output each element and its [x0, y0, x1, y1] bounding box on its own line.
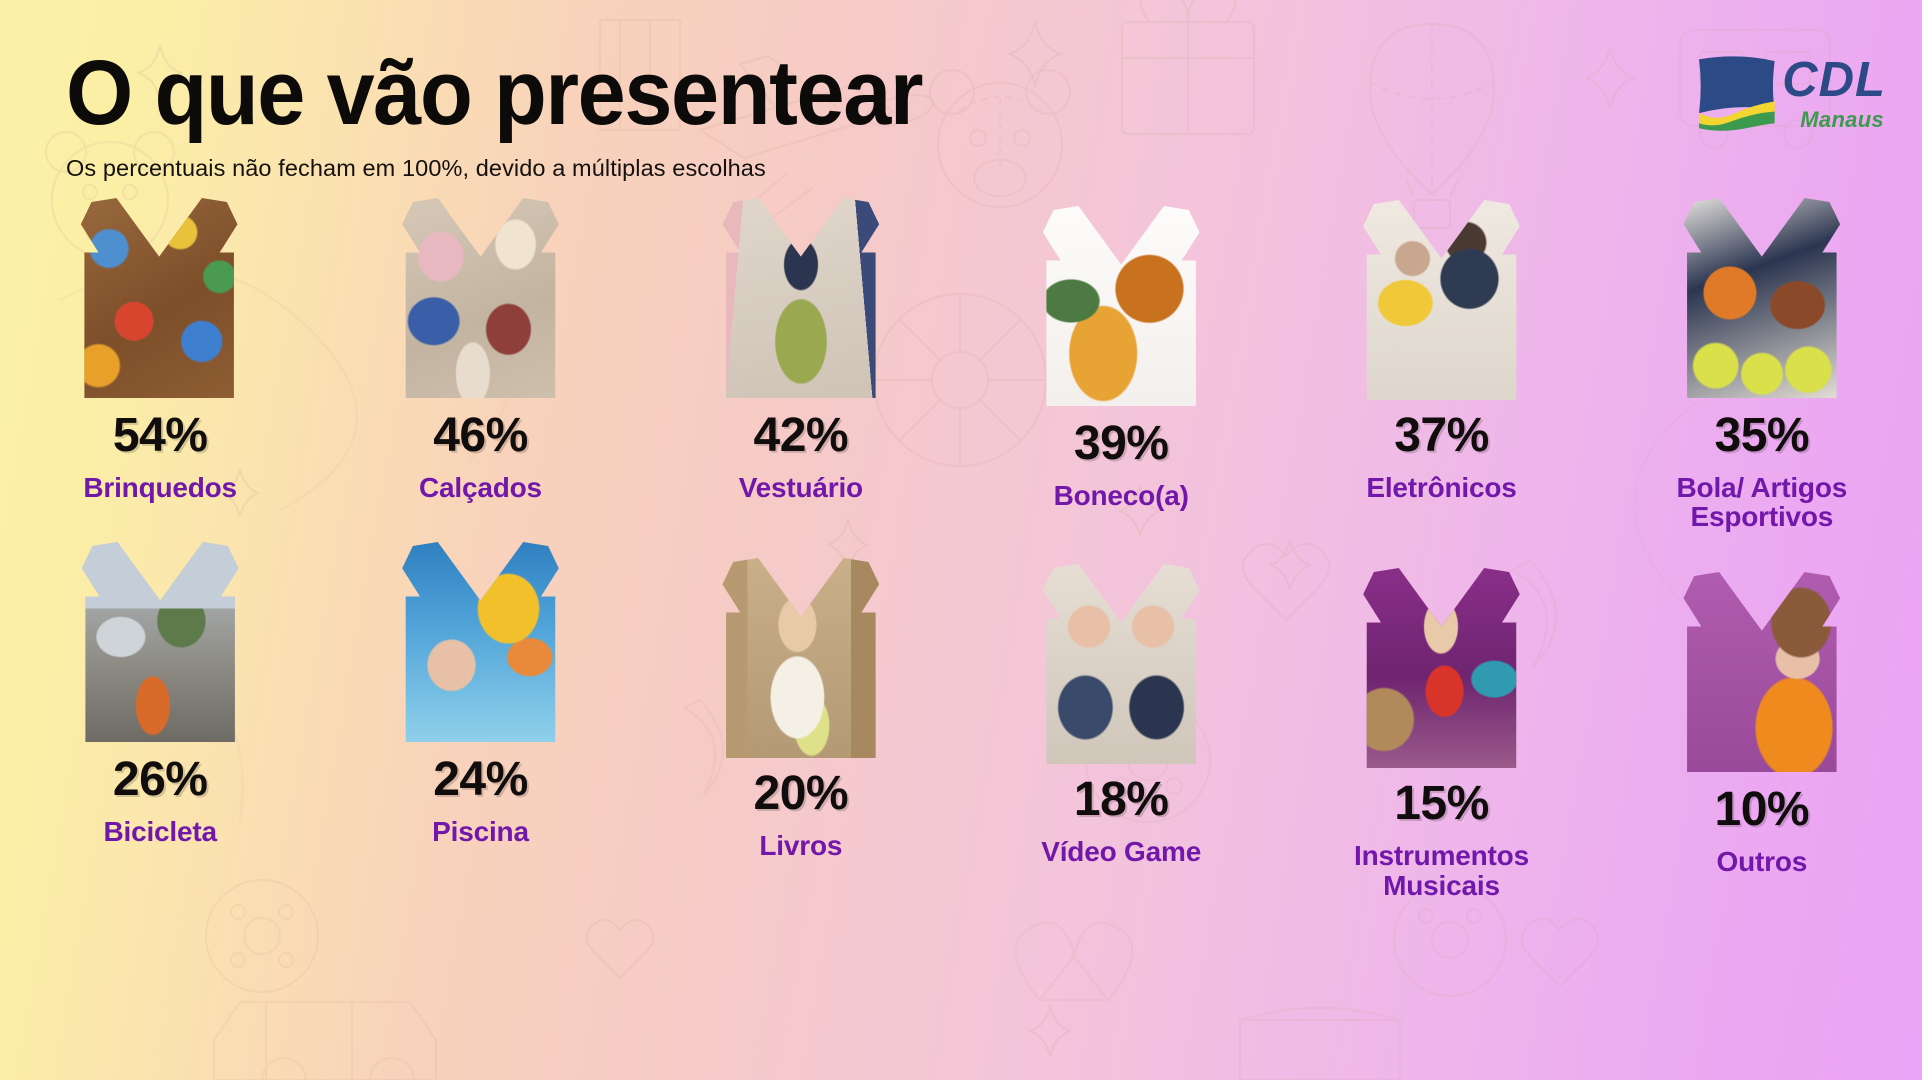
infographic-poster: O que vão presentear Os percentuais não …: [0, 0, 1922, 1080]
percent-value: 24%: [433, 756, 528, 804]
percent-value: 10%: [1715, 786, 1810, 834]
sports-equipment-photo: [1673, 196, 1851, 398]
percent-value: 35%: [1715, 412, 1810, 460]
gift-category-grid: 54% Brinquedos 46% Calçados 42% Vestuári…: [0, 196, 1922, 870]
gift-item-instrumentos-musicais: 15% Instrumentos Musicais: [1281, 540, 1601, 870]
gift-box-shape: [1673, 196, 1851, 398]
thinking-woman-photo: [1673, 570, 1851, 772]
category-label: Piscina: [432, 817, 529, 847]
child-clothing-photo: [712, 196, 890, 398]
gift-item-bola-artigos-esportivos: 35% Bola/ Artigos Esportivos: [1602, 196, 1922, 526]
cdl-flag-icon: [1694, 54, 1778, 132]
dinosaur-toys-photo: [1032, 204, 1210, 406]
gift-item-video-game: 18% Vídeo Game: [961, 540, 1281, 870]
category-label: Bola/ Artigos Esportivos: [1632, 473, 1892, 532]
children-in-pool-photo: [391, 540, 569, 742]
category-label: Brinquedos: [83, 473, 237, 503]
category-label: Vestuário: [739, 473, 863, 503]
gift-item-brinquedos: 54% Brinquedos: [0, 196, 320, 526]
percent-value: 20%: [754, 770, 849, 818]
page-subtitle: Os percentuais não fecham em 100%, devid…: [66, 155, 1266, 182]
kids-playing-videogame-photo: [1032, 562, 1210, 764]
gift-box-shape: [1352, 198, 1530, 400]
category-label: Outros: [1717, 847, 1808, 877]
logo-cdl-text: CDL: [1782, 56, 1886, 105]
gift-item-calcados: 46% Calçados: [320, 196, 640, 526]
percent-value: 37%: [1394, 412, 1489, 460]
category-label: Instrumentos Musicais: [1311, 841, 1571, 901]
gift-box-shape: [1673, 570, 1851, 772]
gift-box-shape: [1032, 562, 1210, 764]
percent-value: 46%: [433, 412, 528, 460]
percent-value: 39%: [1074, 420, 1169, 468]
gift-box-shape: [71, 540, 249, 742]
percent-value: 54%: [113, 412, 208, 460]
gift-item-eletronicos: 37% Eletrônicos: [1281, 196, 1601, 526]
logo-wordmark: CDL Manaus: [1782, 56, 1886, 131]
page-title: O que vão presentear: [66, 48, 1194, 138]
percent-value: 15%: [1394, 780, 1489, 828]
header: O que vão presentear Os percentuais não …: [66, 48, 1266, 182]
gift-item-bonecoa: 39% Boneco(a): [961, 196, 1281, 526]
percent-value: 42%: [754, 412, 849, 460]
percent-value: 26%: [113, 756, 208, 804]
gift-box-shape: [70, 196, 248, 398]
gift-item-vestuario: 42% Vestuário: [641, 196, 961, 526]
percent-value: 18%: [1074, 776, 1169, 824]
family-with-tablet-photo: [1352, 198, 1530, 400]
category-label: Calçados: [419, 473, 542, 503]
gift-item-piscina: 24% Piscina: [320, 540, 640, 870]
gift-box-shape: [1032, 204, 1210, 406]
gift-box-shape: [391, 540, 569, 742]
gift-item-bicicleta: 26% Bicicleta: [0, 540, 320, 870]
gift-box-shape: [391, 196, 569, 398]
cdl-manaus-logo: CDL Manaus: [1694, 54, 1886, 132]
category-label: Bicicleta: [103, 817, 216, 847]
category-label: Eletrônicos: [1366, 473, 1516, 503]
category-label: Vídeo Game: [1041, 837, 1201, 867]
gift-box-shape: [712, 196, 890, 398]
girl-reading-book-photo: [712, 556, 890, 758]
logo-manaus-text: Manaus: [1800, 109, 1886, 131]
children-playing-instruments-photo: [1352, 566, 1530, 768]
children-cycling-photo: [71, 540, 249, 742]
category-label: Boneco(a): [1054, 481, 1189, 511]
gift-item-outros: 10% Outros: [1602, 540, 1922, 870]
gift-item-livros: 20% Livros: [641, 540, 961, 870]
childrens-shoes-photo: [391, 196, 569, 398]
gift-box-shape: [712, 556, 890, 758]
gift-box-shape: [1352, 566, 1530, 768]
category-label: Livros: [759, 831, 842, 861]
toys-assortment-photo: [70, 196, 248, 398]
